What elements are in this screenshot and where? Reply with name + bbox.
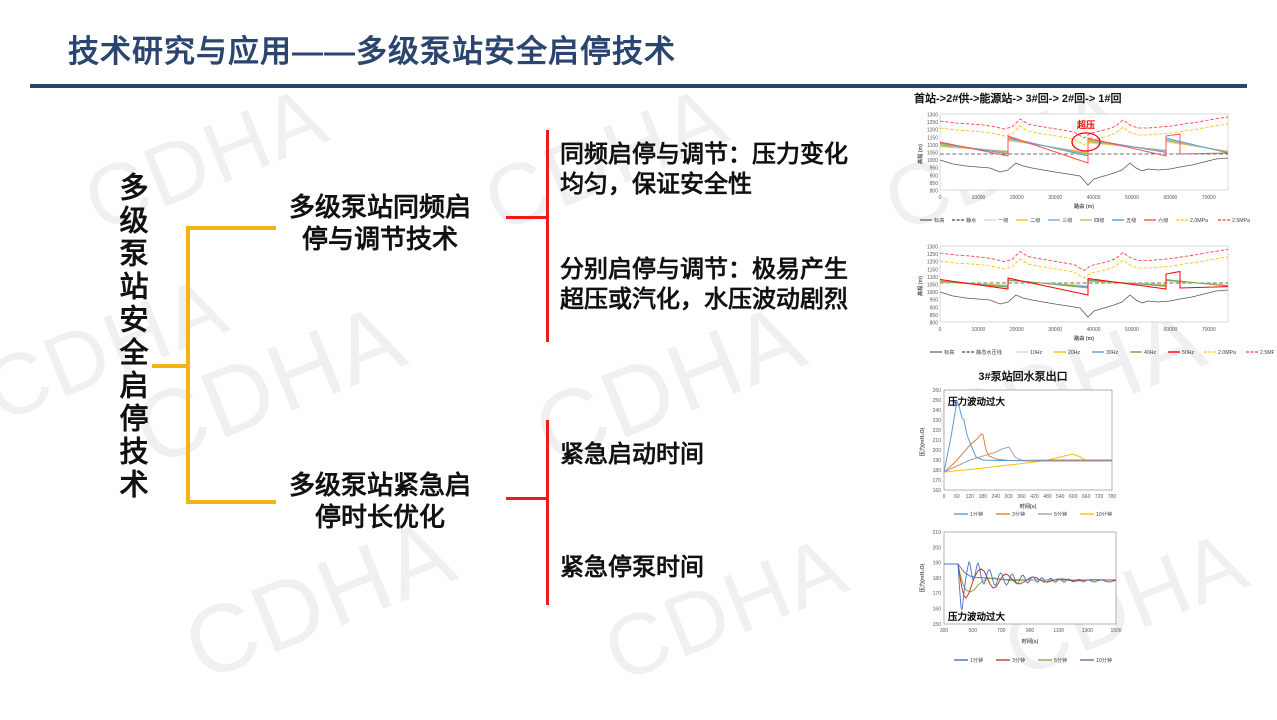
svg-text:0: 0	[939, 327, 942, 333]
svg-text:1050: 1050	[927, 151, 938, 157]
svg-text:六级: 六级	[1158, 216, 1168, 224]
svg-text:静水: 静水	[966, 216, 977, 224]
svg-text:10分钟: 10分钟	[1096, 656, 1112, 664]
mindmap-branch-3: 紧急启动时间	[560, 440, 900, 470]
chart-2-plot: 13001250 12001150 11001050 1000950 90085…	[908, 238, 1274, 368]
svg-text:二级: 二级	[1030, 216, 1040, 224]
svg-text:850: 850	[930, 313, 939, 319]
chart-1-plot: 13001250 12001150 11001050 1000950 90085…	[908, 106, 1274, 226]
svg-text:2.0MPa: 2.0MPa	[1218, 350, 1236, 356]
svg-text:1分钟: 1分钟	[970, 656, 983, 664]
mindmap-branch-1-line1: 同频启停与调节：压力变化	[560, 140, 900, 170]
mindmap-root-label: 多级泵站安全启停技术	[100, 172, 146, 502]
svg-text:170: 170	[933, 478, 942, 484]
svg-text:50000: 50000	[1125, 195, 1139, 201]
svg-text:2.5MPa: 2.5MPa	[1260, 350, 1274, 356]
svg-text:950: 950	[930, 298, 939, 304]
svg-text:220: 220	[933, 428, 942, 434]
svg-text:1100: 1100	[1053, 628, 1064, 634]
svg-text:1000: 1000	[927, 290, 938, 296]
svg-text:210: 210	[933, 438, 942, 444]
svg-text:60000: 60000	[1163, 327, 1177, 333]
svg-text:5分钟: 5分钟	[1054, 510, 1067, 516]
svg-text:1200: 1200	[927, 128, 938, 134]
svg-text:40000: 40000	[1087, 327, 1101, 333]
svg-text:60000: 60000	[1163, 195, 1177, 201]
svg-text:50000: 50000	[1125, 327, 1139, 333]
svg-text:1分钟: 1分钟	[970, 510, 983, 516]
chart-3-legend: 1分钟 3分钟 5分钟 10分钟	[954, 510, 1112, 516]
svg-text:10Hz: 10Hz	[1030, 350, 1043, 356]
svg-text:三级: 三级	[1062, 216, 1072, 224]
svg-text:2.0MPa: 2.0MPa	[1190, 218, 1208, 224]
svg-text:180: 180	[933, 468, 942, 474]
svg-text:时间(s): 时间(s)	[1020, 502, 1037, 510]
chart-1-title: 首站->2#供->能源站-> 3#回-> 2#回-> 1#回	[914, 90, 1274, 106]
chart-4-legend: 1分钟 3分钟 5分钟 10分钟	[954, 656, 1112, 664]
mindmap-node-1-line1: 多级泵站同频启	[255, 192, 505, 224]
svg-text:210: 210	[933, 530, 942, 536]
svg-text:190: 190	[933, 458, 942, 464]
svg-text:900: 900	[930, 305, 939, 311]
svg-text:660: 660	[1082, 494, 1091, 500]
connector-root-stub	[152, 364, 188, 368]
svg-text:180: 180	[933, 576, 942, 582]
watermark: CDHA	[591, 516, 861, 702]
svg-text:0: 0	[943, 494, 946, 500]
mindmap-branch-1: 同频启停与调节：压力变化 均匀，保证安全性	[560, 140, 900, 200]
chart-1-legend: 标高 静水 一级 二级 三级 四级 五级 六级 2.0MPa 2.5MPa	[920, 216, 1250, 224]
svg-text:1100: 1100	[927, 143, 938, 149]
mindmap-branch-2: 分别启停与调节：极易产生 超压或汽化，水压波动剧烈	[560, 255, 900, 315]
svg-text:2.5MPa: 2.5MPa	[1232, 218, 1250, 224]
svg-text:240: 240	[933, 408, 942, 414]
svg-text:360: 360	[1017, 494, 1026, 500]
svg-text:20000: 20000	[1010, 327, 1024, 333]
svg-text:170: 170	[933, 591, 942, 597]
svg-text:190: 190	[933, 561, 942, 567]
svg-text:30Hz: 30Hz	[1106, 350, 1119, 356]
svg-text:路由 (m): 路由 (m)	[1074, 334, 1094, 342]
svg-text:160: 160	[933, 607, 942, 613]
svg-text:0: 0	[939, 195, 942, 201]
chart-4-annotation-label: 压力波动过大	[948, 611, 1006, 623]
mindmap-node-2-line1: 多级泵站紧急启	[255, 470, 505, 502]
svg-text:1300: 1300	[927, 245, 938, 251]
mindmap-branch-4-line1: 紧急停泵时间	[560, 553, 900, 583]
mindmap-branch-2-line1: 分别启停与调节：极易产生	[560, 255, 900, 285]
chart-1-annotation-label: 超压	[1076, 119, 1095, 130]
svg-text:静态水压线: 静态水压线	[976, 348, 1002, 356]
chart-2-legend: 标高 静态水压线 10Hz 20Hz 30Hz 40Hz 50Hz 2.0MPa…	[930, 348, 1274, 356]
svg-text:40000: 40000	[1087, 195, 1101, 201]
svg-text:1150: 1150	[927, 267, 938, 273]
svg-text:780: 780	[1108, 494, 1117, 500]
connector-spine	[186, 226, 190, 504]
svg-text:500: 500	[969, 628, 978, 634]
svg-text:20000: 20000	[1010, 195, 1024, 201]
svg-text:50Hz: 50Hz	[1182, 350, 1195, 356]
chart-3-plot: 260250 240230 220210 200190 180170 160 0…	[908, 384, 1274, 516]
svg-text:230: 230	[933, 418, 942, 424]
mindmap-node-2-line2: 停时长优化	[255, 502, 505, 534]
page-title: 技术研究与应用——多级泵站安全启停技术	[68, 26, 676, 71]
slide-header: 技术研究与应用——多级泵站安全启停技术	[0, 0, 1277, 88]
svg-text:1250: 1250	[927, 252, 938, 258]
svg-text:720: 720	[1095, 494, 1104, 500]
svg-text:300: 300	[940, 628, 949, 634]
svg-text:3分钟: 3分钟	[1012, 510, 1025, 516]
svg-text:30000: 30000	[1048, 195, 1062, 201]
svg-text:1500: 1500	[1110, 628, 1121, 634]
svg-text:10000: 10000	[971, 327, 985, 333]
mindmap-branch-1-line2: 均匀，保证安全性	[560, 170, 900, 200]
chart-4-plot: 210200 190180 170160 150 300500 700900 1…	[908, 522, 1274, 672]
svg-text:20Hz: 20Hz	[1068, 350, 1081, 356]
svg-text:一级: 一级	[998, 216, 1008, 224]
chart-1: 首站->2#供->能源站-> 3#回-> 2#回-> 1#回 13001250 …	[908, 90, 1274, 228]
svg-text:240: 240	[992, 494, 1001, 500]
svg-text:5分钟: 5分钟	[1054, 656, 1067, 664]
svg-text:120: 120	[966, 494, 975, 500]
mindmap-node-1-line2: 停与调节技术	[255, 224, 505, 256]
svg-text:1250: 1250	[927, 120, 938, 126]
svg-text:900: 900	[1026, 628, 1035, 634]
svg-text:950: 950	[930, 166, 939, 172]
svg-text:800: 800	[930, 189, 939, 195]
svg-text:180: 180	[979, 494, 988, 500]
svg-text:五级: 五级	[1126, 216, 1136, 224]
mindmap-branch-3-line1: 紧急启动时间	[560, 440, 900, 470]
svg-text:850: 850	[930, 181, 939, 187]
svg-text:1050: 1050	[927, 283, 938, 289]
svg-text:1000: 1000	[927, 158, 938, 164]
connector-red-stub-bottom	[506, 497, 546, 500]
svg-text:420: 420	[1030, 494, 1039, 500]
svg-text:30000: 30000	[1048, 327, 1062, 333]
mindmap-node-2: 多级泵站紧急启 停时长优化	[255, 470, 505, 533]
mindmap-node-1: 多级泵站同频启 停与调节技术	[255, 192, 505, 255]
connector-red-stub-top	[506, 216, 546, 219]
svg-text:路由 (m): 路由 (m)	[1074, 202, 1094, 210]
svg-text:压力(mH₂O): 压力(mH₂O)	[918, 427, 926, 456]
svg-text:40Hz: 40Hz	[1144, 350, 1157, 356]
svg-text:3分钟: 3分钟	[1012, 656, 1025, 664]
header-divider	[30, 84, 1247, 88]
chart-3: 3#泵站回水泵出口 260250 240230 220210 200190 18…	[908, 368, 1274, 518]
svg-text:1100: 1100	[927, 275, 938, 281]
slide-root: CDHA CDHA CDHA CDHA CDHA CDHA CDHA CDHA …	[0, 0, 1277, 720]
svg-text:1300: 1300	[927, 113, 938, 119]
svg-text:四级: 四级	[1094, 216, 1104, 224]
svg-text:480: 480	[1043, 494, 1052, 500]
mindmap-branch-2-line2: 超压或汽化，水压波动剧烈	[560, 285, 900, 315]
svg-text:160: 160	[933, 488, 942, 494]
svg-text:高程 (m): 高程 (m)	[916, 276, 924, 296]
svg-text:10000: 10000	[971, 195, 985, 201]
svg-text:700: 700	[997, 628, 1006, 634]
connector-red-spine-top	[546, 130, 549, 342]
svg-text:150: 150	[933, 622, 942, 628]
svg-text:标高: 标高	[944, 348, 954, 356]
chart-4: 210200 190180 170160 150 300500 700900 1…	[908, 522, 1274, 672]
svg-text:540: 540	[1056, 494, 1065, 500]
svg-text:900: 900	[930, 173, 939, 179]
svg-text:标高: 标高	[934, 216, 944, 224]
svg-text:800: 800	[930, 321, 939, 327]
svg-text:70000: 70000	[1202, 195, 1216, 201]
svg-text:260: 260	[933, 388, 942, 394]
svg-text:60: 60	[954, 494, 960, 500]
svg-text:1200: 1200	[927, 260, 938, 266]
svg-text:1300: 1300	[1082, 628, 1093, 634]
svg-text:压力(mH₂O): 压力(mH₂O)	[918, 563, 926, 592]
svg-text:300: 300	[1004, 494, 1013, 500]
svg-text:10分钟: 10分钟	[1096, 510, 1112, 516]
connector-red-spine-bottom	[546, 420, 549, 605]
chart-2: 13001250 12001150 11001050 1000950 90085…	[908, 238, 1274, 368]
svg-text:200: 200	[933, 448, 942, 454]
svg-text:1150: 1150	[927, 135, 938, 141]
mindmap-branch-4: 紧急停泵时间	[560, 553, 900, 583]
chart-3-title: 3#泵站回水泵出口	[908, 368, 1138, 384]
svg-text:时间(s): 时间(s)	[1022, 637, 1039, 645]
svg-text:250: 250	[933, 398, 942, 404]
svg-text:200: 200	[933, 545, 942, 551]
watermark: CDHA	[120, 282, 421, 489]
svg-text:70000: 70000	[1202, 327, 1216, 333]
svg-text:600: 600	[1069, 494, 1078, 500]
svg-text:高程 (m): 高程 (m)	[916, 144, 924, 164]
